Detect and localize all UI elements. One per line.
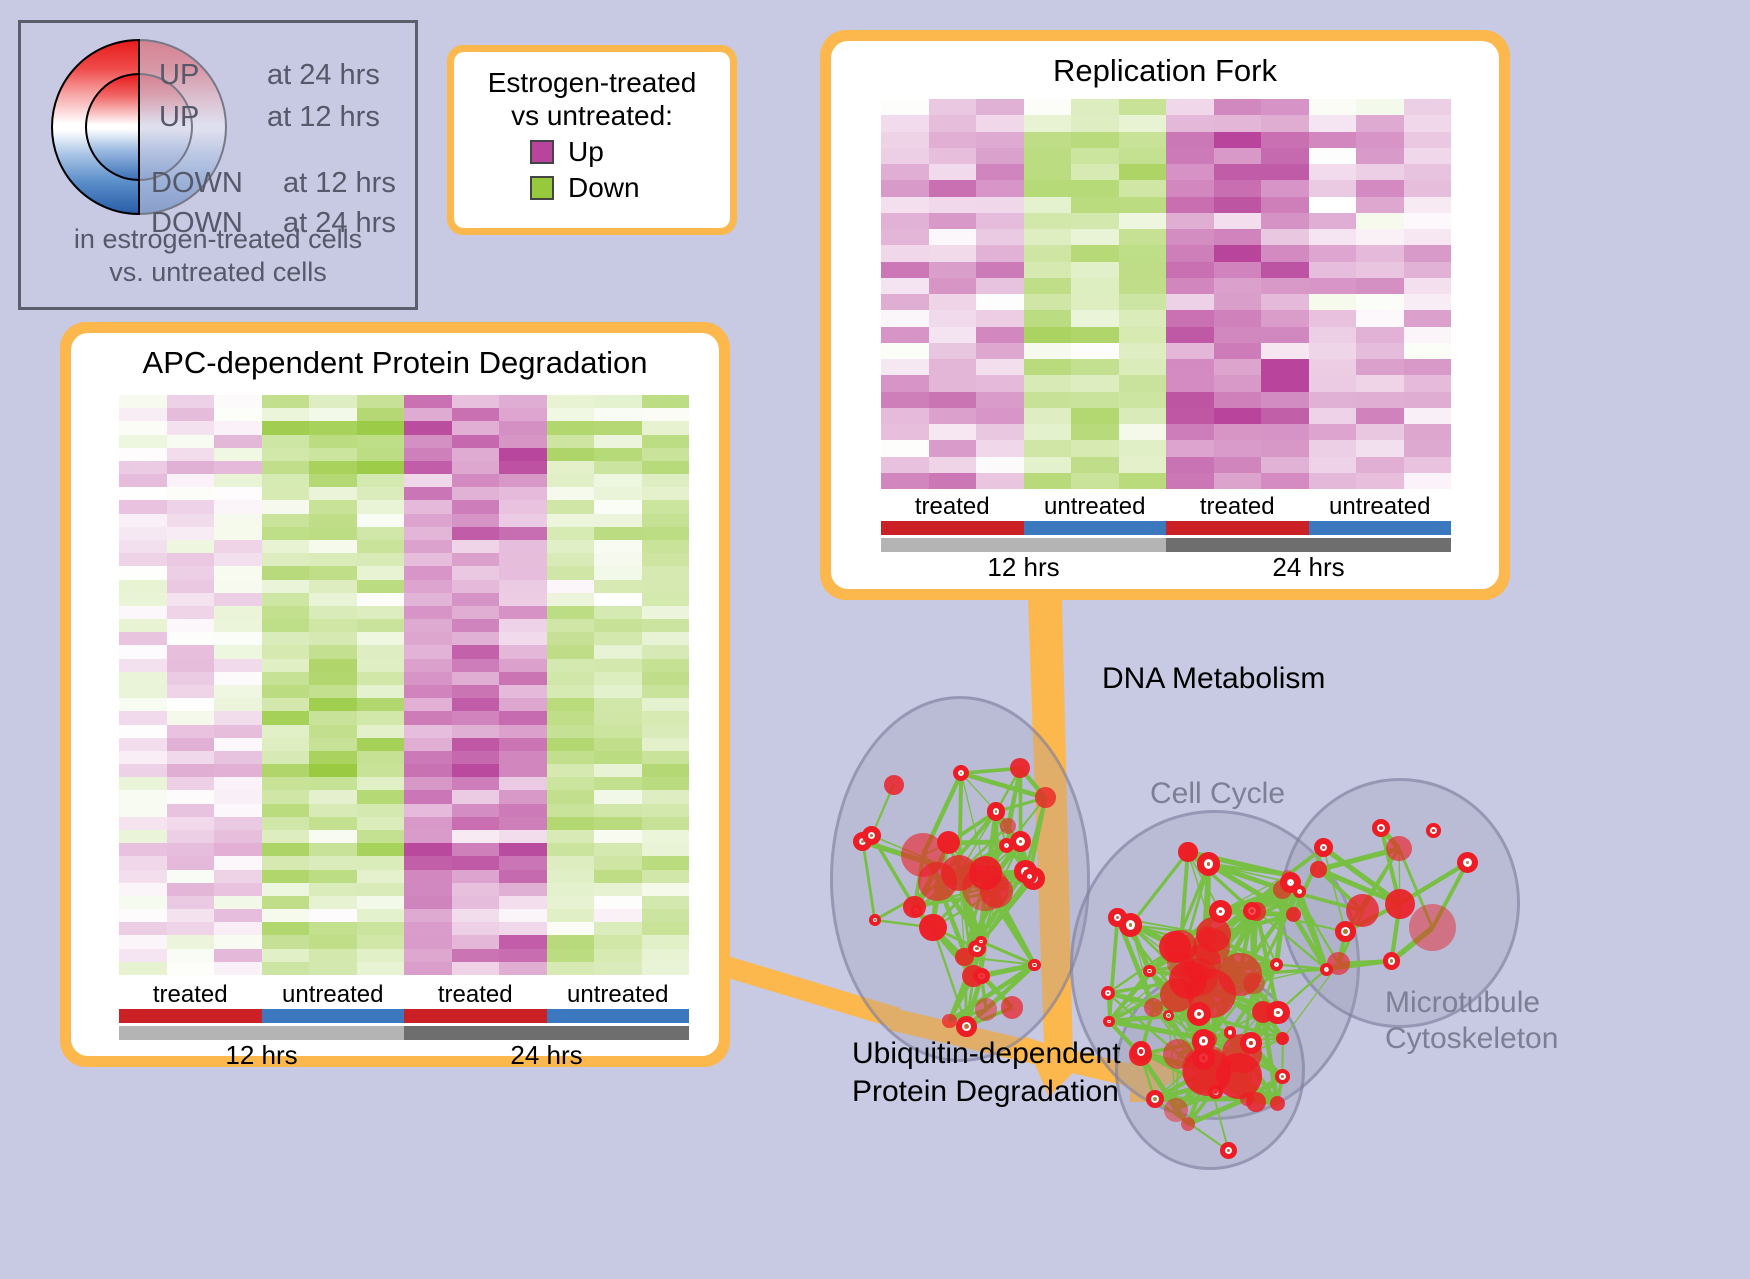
heatmap-cell [1166,229,1214,245]
heatmap-cell [309,487,357,500]
heatmap-cell [357,474,405,487]
heatmap-cell [929,473,977,489]
heatmap-cell [547,566,595,579]
heatmap-cell [499,395,547,408]
heatmap-cell [642,843,690,856]
heatmap-cell [119,685,167,698]
heatmap-cell [214,883,262,896]
heatmap-cell [167,790,215,803]
heatmap-cell [214,632,262,645]
network-node [1178,842,1197,861]
heatmap-cell [1309,359,1357,375]
heatmap-cell [594,540,642,553]
heatmap-cell [929,213,977,229]
heatmap-cell [1261,457,1309,473]
heatmap-cell [1166,310,1214,326]
heatmap-cell [594,817,642,830]
heatmap-cell [1166,294,1214,310]
heatmap-cell [309,843,357,856]
heatmap-cell [594,421,642,434]
heatmap-cell [499,777,547,790]
heatmap-cell [309,500,357,513]
heatmap-cell [262,949,310,962]
heatmap-cell [357,566,405,579]
heatmap-cell [262,408,310,421]
heatmap-cell [1356,180,1404,196]
heatmap-cell [594,593,642,606]
heatmap-cell [119,698,167,711]
heatmap-cell [1071,392,1119,408]
network-node [1275,1069,1290,1084]
heatmap-cell [357,593,405,606]
cluster-label-cell-cycle: Cell Cycle [1150,777,1285,811]
heatmap-cell [1309,294,1357,310]
timepoint-color-bar [119,1026,689,1040]
heatmap-cell [119,645,167,658]
heatmap-cell [452,830,500,843]
heatmap-cell [119,725,167,738]
heatmap-cell [499,500,547,513]
heatmap-cell [594,474,642,487]
up-down-legend-box: Estrogen-treated vs untreated: Up Down [447,45,737,235]
heatmap-cell [1356,132,1404,148]
heatmap-cell [357,698,405,711]
heatmap-cell [262,922,310,935]
heatmap-cell [1166,180,1214,196]
heatmap-cell [499,408,547,421]
heatmap-cell [309,909,357,922]
heatmap-cell [1261,278,1309,294]
heatmap-cell [642,435,690,448]
heatmap-cell [1404,343,1452,359]
heatmap-cell [309,685,357,698]
heatmap-cell [1261,440,1309,456]
heatmap-cell [452,856,500,869]
heatmap-cell [452,645,500,658]
heatmap-cell [1119,343,1167,359]
heatmap-cell [881,457,929,473]
heatmap-cell [262,566,310,579]
heatmap-cell [1404,115,1452,131]
heatmap-cell [1356,197,1404,213]
legend-up-label: Up [568,136,654,168]
key-up-24-time: at 24 hrs [267,59,380,92]
heatmap-cell [1024,245,1072,261]
sample-group-label: untreated [1309,493,1452,521]
heatmap-cell [1214,424,1262,440]
heatmap-cell [594,751,642,764]
heatmap-cell [1119,229,1167,245]
heatmap-cell [881,359,929,375]
heatmap-cell [119,500,167,513]
heatmap-cell [1024,473,1072,489]
heatmap-cell [1356,213,1404,229]
heatmap-cell [594,909,642,922]
heatmap-cell [1166,197,1214,213]
network-node [869,914,881,926]
heatmap-cell [452,461,500,474]
heatmap-cell [929,408,977,424]
heatmap-cell [547,487,595,500]
network-node [919,914,947,942]
heatmap-cell [1166,278,1214,294]
heatmap-cell [167,553,215,566]
network-node [1143,965,1155,977]
heatmap-cell [357,619,405,632]
heatmap-cell [976,148,1024,164]
heatmap-cell [262,711,310,724]
heatmap-cell [499,804,547,817]
heatmap-cell [119,593,167,606]
heatmap-cell [262,896,310,909]
heatmap-cell [1071,180,1119,196]
heatmap-cell [119,962,167,975]
heatmap-cell [357,922,405,935]
heatmap-cell [309,514,357,527]
heatmap-cell [1071,115,1119,131]
heatmap-cell [404,659,452,672]
heatmap-cell [929,245,977,261]
heatmap-cell [1404,473,1452,489]
heatmap-cell [262,448,310,461]
heatmap-cell [1071,164,1119,180]
heatmap-cell [1356,424,1404,440]
network-node [1001,996,1023,1018]
timepoint-bar-segment [881,538,1166,552]
heatmap-cell [262,435,310,448]
heatmap-cell [1404,132,1452,148]
heatmap-cell [357,487,405,500]
heatmap-cell [1261,132,1309,148]
heatmap-cell [262,883,310,896]
heatmap-cell [309,540,357,553]
heatmap-cell [119,580,167,593]
heatmap-cell [1024,278,1072,294]
heatmap-cell [1356,262,1404,278]
heatmap-cell [309,804,357,817]
sample-group-label: untreated [262,981,405,1009]
heatmap-cell [499,896,547,909]
heatmap-cell [214,909,262,922]
heatmap-cell [404,725,452,738]
heatmap-cell [642,580,690,593]
heatmap-cell [214,870,262,883]
heatmap-cell [976,115,1024,131]
heatmap-cell [1119,180,1167,196]
heatmap-cell [594,435,642,448]
heatmap-cell [262,593,310,606]
heatmap-cell [499,738,547,751]
heatmap-cell [214,474,262,487]
heatmap-cell [1404,213,1452,229]
heatmap-cell [642,461,690,474]
heatmap-cell [1356,408,1404,424]
heatmap-cell [1261,375,1309,391]
heatmap-cell [929,180,977,196]
heatmap-cell [1119,473,1167,489]
heatmap-cell [594,725,642,738]
heatmap-cell [167,461,215,474]
timepoint-label: 24 hrs [404,1040,689,1071]
heatmap-cell [1166,164,1214,180]
network-node [1035,787,1056,808]
heatmap-cell [1214,440,1262,456]
network-node [1131,1041,1151,1061]
heatmap-cell [357,949,405,962]
heatmap-cell [499,817,547,830]
heatmap-cell [1119,164,1167,180]
heatmap-cell [976,262,1024,278]
heatmap-cell [262,725,310,738]
heatmap-cell [1309,115,1357,131]
heatmap-cell [1309,99,1357,115]
heatmap-cell [1119,440,1167,456]
heatmap-cell [976,457,1024,473]
heatmap-cell [881,294,929,310]
heatmap-cell [929,262,977,278]
heatmap-cell [1356,245,1404,261]
heatmap-cell [594,870,642,883]
heatmap-cell [976,392,1024,408]
heatmap-cell [167,580,215,593]
heatmap-cell [309,751,357,764]
network-node [903,896,926,919]
heatmap-cell [119,751,167,764]
heatmap-cell [262,698,310,711]
heatmap-cell [214,830,262,843]
heatmap-cell [1071,473,1119,489]
network-node [1270,958,1283,971]
heatmap-cell [1309,457,1357,473]
heatmap-cell [1404,99,1452,115]
heatmap-cell [881,424,929,440]
heatmap-cell [642,645,690,658]
heatmap-cell [452,711,500,724]
heatmap-cell [594,843,642,856]
heatmap-cell [547,593,595,606]
heatmap-cell [262,685,310,698]
heatmap-cell [119,817,167,830]
heatmap-cell [929,457,977,473]
heatmap-cell [357,896,405,909]
heatmap-cell [309,830,357,843]
heatmap-cell [1309,375,1357,391]
heatmap-cell [214,487,262,500]
heatmap-cell [262,909,310,922]
heatmap-cell [309,883,357,896]
key-up-12-label: UP [159,101,199,134]
sample-group-label: untreated [547,981,690,1009]
heatmap-cell [1071,440,1119,456]
heatmap-cell [309,922,357,935]
heatmap-cell [642,408,690,421]
heatmap-cell [309,408,357,421]
heatmap-cell [1356,148,1404,164]
heatmap-cell [119,922,167,935]
heatmap-cell [547,659,595,672]
heatmap-cell [547,685,595,698]
heatmap-cell [1404,262,1452,278]
heatmap-cell [499,566,547,579]
heatmap-cell [929,392,977,408]
heatmap-cell [499,751,547,764]
heatmap-cell [1261,473,1309,489]
heatmap-cell [119,619,167,632]
heatmap-cell [1119,359,1167,375]
heatmap-cell [1356,99,1404,115]
network-node [1426,823,1441,838]
heatmap-cell [119,527,167,540]
heatmap-cell [1214,229,1262,245]
heatmap-cell [119,632,167,645]
heatmap-cell [1166,359,1214,375]
heatmap-cell [642,606,690,619]
network-node [956,1016,977,1037]
heatmap-cell [547,435,595,448]
heatmap-cell [309,553,357,566]
heatmap-cell [594,395,642,408]
heatmap-cell [1356,115,1404,131]
heatmap-cell [1024,457,1072,473]
heatmap-cell [404,751,452,764]
heatmap-cell [1309,343,1357,359]
heatmap-cell [309,435,357,448]
heatmap-cell [976,294,1024,310]
heatmap-cell [499,909,547,922]
heatmap-cell [262,777,310,790]
heatmap-cell [262,817,310,830]
heatmap-cell [404,922,452,935]
heatmap-cell [452,435,500,448]
heatmap-cell [214,949,262,962]
heatmap-cell [1166,148,1214,164]
heatmap-cell [309,711,357,724]
heatmap-cell [452,949,500,962]
heatmap-cell [452,685,500,698]
heatmap-cell [499,685,547,698]
heatmap-cell [1261,180,1309,196]
heatmap-cell [452,962,500,975]
heatmap-cell [357,870,405,883]
heatmap-cell [1214,180,1262,196]
heatmap-cell [1261,245,1309,261]
heatmap-cell [1119,375,1167,391]
heatmap-cell [1404,278,1452,294]
treatment-bar-segment [547,1009,690,1023]
heatmap-cell [167,487,215,500]
key-down-12-label: DOWN [151,167,243,200]
heatmap-cell [1309,164,1357,180]
sample-group-label: treated [119,981,262,1009]
heatmap-cell [404,777,452,790]
heatmap-cell [357,553,405,566]
heatmap-cell [1214,99,1262,115]
heatmap-cell [214,777,262,790]
heatmap-cell [1071,245,1119,261]
heatmap-cell [357,672,405,685]
heatmap-cell [452,870,500,883]
heatmap-cell [547,777,595,790]
heatmap-cell [452,922,500,935]
heatmap-cell [547,817,595,830]
heatmap-cell [214,580,262,593]
heatmap-cell [1261,229,1309,245]
heatmap-cell [594,856,642,869]
heatmap-cell [1071,327,1119,343]
heatmap-cell [262,659,310,672]
heatmap-cell [309,896,357,909]
heatmap-cell [1309,310,1357,326]
heatmap-cell [262,527,310,540]
heatmap-cell [119,553,167,566]
heatmap-cell [1214,310,1262,326]
treatment-bar-segment [262,1009,405,1023]
heatmap-cell [594,738,642,751]
heatmap-cell [547,553,595,566]
heatmap-cell [167,540,215,553]
heatmap-cell [309,580,357,593]
heatmap-cell [309,672,357,685]
heatmap-cell [214,500,262,513]
heatmap-cell [976,278,1024,294]
heatmap-cell [1356,392,1404,408]
heatmap-cell [167,935,215,948]
heatmap-cell [262,500,310,513]
heatmap-cell [357,685,405,698]
heatmap-cell [309,606,357,619]
heatmap-cell [881,327,929,343]
heatmap-cell [881,180,929,196]
heatmap-cell [452,514,500,527]
heatmap-cell [929,229,977,245]
heatmap-cell [1214,375,1262,391]
heatmap-cell [499,764,547,777]
heatmap-cell [214,790,262,803]
heatmap-cell [1214,408,1262,424]
heatmap-cell [214,922,262,935]
heatmap-cell [1309,245,1357,261]
heatmap-cell [642,487,690,500]
heatmap-cell [404,764,452,777]
heatmap-cell [1166,115,1214,131]
heatmap-cell [1024,375,1072,391]
heatmap-cell [404,817,452,830]
heatmap-cell [547,632,595,645]
heatmap-cell [1214,262,1262,278]
heatmap-cell [167,672,215,685]
heatmap-cell [119,461,167,474]
heatmap-cell [1404,245,1452,261]
heatmap-cell [357,804,405,817]
heatmap-cell [404,711,452,724]
heatmap-cell [404,896,452,909]
heatmap-cell [214,408,262,421]
heatmap-cell [594,804,642,817]
heatmap-cell [1214,359,1262,375]
heatmap-cell [642,896,690,909]
heatmap-cell [976,440,1024,456]
heatmap-cell [357,421,405,434]
heatmap-cell [547,514,595,527]
heatmap-cell [214,764,262,777]
heatmap-cell [262,580,310,593]
heatmap-cell [262,856,310,869]
heatmap-cell [452,474,500,487]
heatmap-cell [594,645,642,658]
heatmap-cell [1024,229,1072,245]
heatmap-cell [357,764,405,777]
heatmap-cell [1214,327,1262,343]
